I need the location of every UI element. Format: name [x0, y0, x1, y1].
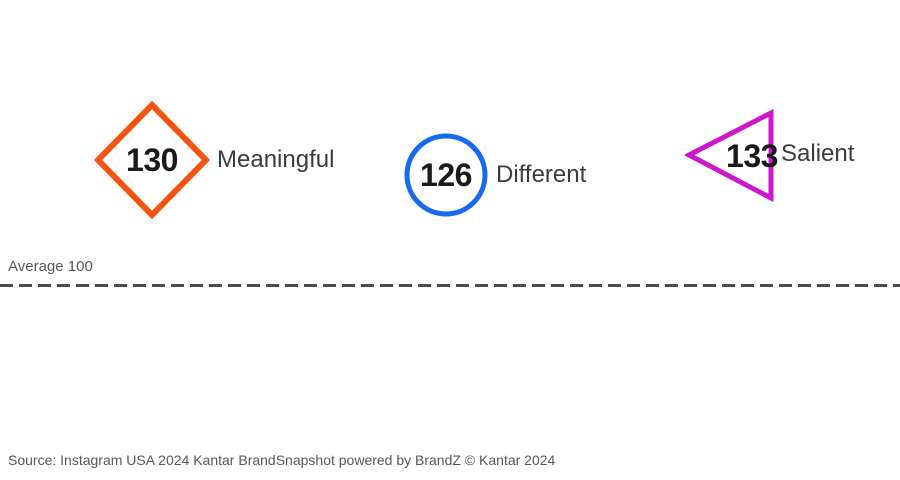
- source-note: Source: Instagram USA 2024 Kantar BrandS…: [8, 452, 555, 469]
- metric-label-meaningful: Meaningful: [217, 148, 334, 172]
- metric-different: 126 Different: [404, 133, 586, 217]
- metric-value-salient: 133: [685, 109, 797, 202]
- metric-meaningful: 130 Meaningful: [93, 100, 334, 220]
- triangle-left-shape: 133: [685, 109, 775, 202]
- diamond-shape: 130: [93, 100, 211, 220]
- average-dashed-line: [0, 284, 900, 287]
- metric-value-meaningful: 130: [93, 100, 211, 220]
- metric-salient: 133 Salient: [685, 109, 854, 202]
- average-label: Average 100: [8, 258, 900, 276]
- metric-value-different: 126: [404, 133, 488, 217]
- circle-shape: 126: [404, 133, 488, 217]
- average-baseline: Average 100: [0, 258, 900, 287]
- metric-label-different: Different: [496, 163, 586, 187]
- chart-canvas: 130 Meaningful 126 Different 133 Salient…: [0, 0, 900, 480]
